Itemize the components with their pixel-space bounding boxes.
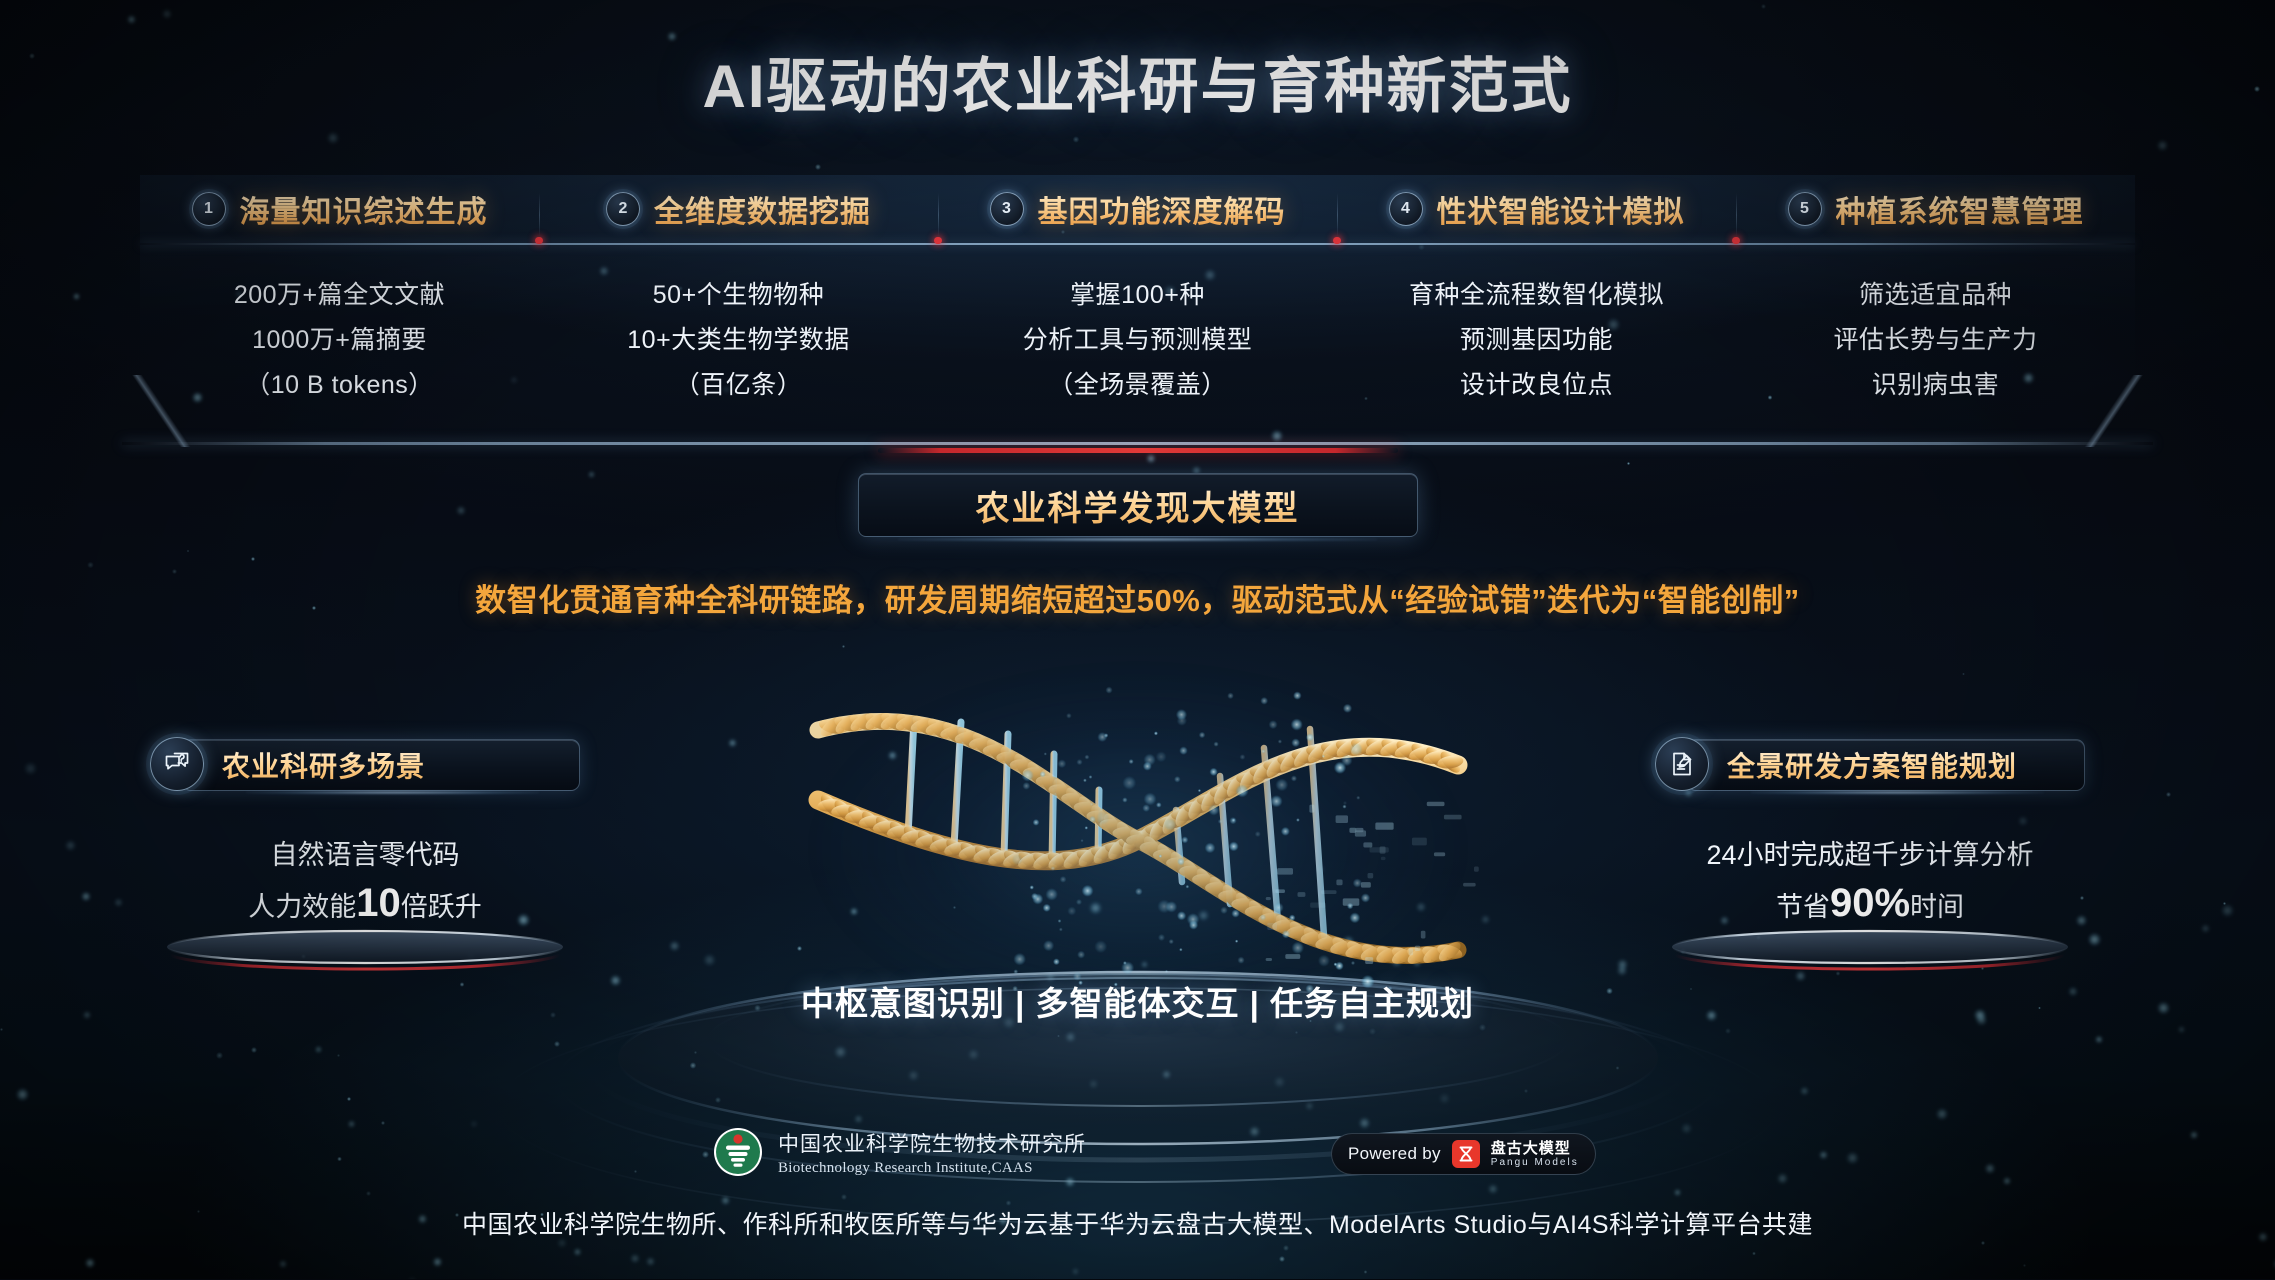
capability-title: 全维度数据挖掘 [654, 187, 871, 231]
pangu-name-cn: 盘古大模型 [1491, 1140, 1579, 1157]
right-feature-card: 全景研发方案智能规划 24小时完成超千步计算分析 节省90%时间 [1655, 735, 2085, 931]
left-feature-card: 农业科研多场景 自然语言零代码 人力效能10倍跃升 [150, 735, 580, 931]
right-card-lines: 24小时完成超千步计算分析 节省90%时间 [1655, 831, 2085, 931]
divider-dot [1334, 237, 1341, 244]
capability-line: 预测基因功能 [1409, 318, 1664, 363]
right-card-header: 全景研发方案智能规划 [1655, 735, 2085, 795]
capability-number-badge: 4 [1389, 192, 1423, 226]
page-title: AI驱动的农业科研与育种新范式 [0, 38, 2275, 125]
left-card-header: 农业科研多场景 [150, 735, 580, 795]
left-card-line-1: 自然语言零代码 [150, 831, 580, 879]
capability-title: 基因功能深度解码 [1038, 187, 1286, 231]
capability-line: 10+大类生物学数据 [627, 318, 849, 363]
capability-line: 评估长势与生产力 [1833, 318, 2037, 363]
left-card-title: 农业科研多场景 [222, 745, 425, 785]
capability-line: 50+个生物物种 [627, 273, 849, 318]
capability-header: 4性状智能设计模拟 [1389, 175, 1685, 243]
pangu-text: 盘古大模型 Pangu Models [1491, 1140, 1579, 1169]
capability-number-badge: 2 [606, 192, 640, 226]
capability-column-2[interactable]: 2全维度数据挖掘50+个生物物种10+大类生物学数据（百亿条） [539, 175, 938, 435]
capability-title: 海量知识综述生成 [240, 187, 488, 231]
capability-number-badge: 5 [1788, 192, 1822, 226]
capability-lines: 200万+篇全文文献1000万+篇摘要（10 B tokens） [234, 273, 445, 408]
capability-line: 1000万+篇摘要 [234, 318, 445, 363]
divider-dot [1733, 237, 1740, 244]
capability-line: （全场景覆盖） [1023, 363, 1253, 408]
capability-title: 种植系统智慧管理 [1836, 187, 2084, 231]
capability-line: 筛选适宜品种 [1833, 273, 2037, 318]
dna-glow [828, 683, 1448, 1013]
capability-header: 1海量知识综述生成 [192, 175, 488, 243]
powered-by-label: Powered by [1348, 1144, 1441, 1164]
model-banner-label: 农业科学发现大模型 [976, 481, 1300, 530]
capability-number-badge: 1 [192, 192, 226, 226]
panel-bottom-edge [122, 442, 2153, 445]
left-line2-number: 10 [356, 881, 401, 925]
right-card-line-1: 24小时完成超千步计算分析 [1655, 831, 2085, 879]
left-line2-prefix: 人力效能 [248, 892, 356, 922]
center-caption: 中枢意图识别 | 多智能体交互 | 任务自主规划 [0, 977, 2275, 1025]
model-banner: 农业科学发现大模型 [858, 473, 1418, 537]
divider-dot [536, 237, 543, 244]
right-line2-number: 90% [1830, 881, 1910, 925]
capabilities-panel: 1海量知识综述生成200万+篇全文文献1000万+篇摘要（10 B tokens… [140, 175, 2135, 435]
capability-column-4[interactable]: 4性状智能设计模拟育种全流程数智化模拟预测基因功能设计改良位点 [1337, 175, 1736, 435]
left-card-line-2: 人力效能10倍跃升 [150, 879, 580, 931]
capability-column-5[interactable]: 5种植系统智慧管理筛选适宜品种评估长势与生产力识别病虫害 [1736, 175, 2135, 435]
capability-header: 5种植系统智慧管理 [1788, 175, 2084, 243]
capability-line: （10 B tokens） [234, 363, 445, 408]
left-line2-suffix: 倍跃升 [401, 892, 482, 922]
right-line2-prefix: 节省 [1776, 892, 1830, 922]
capability-columns: 1海量知识综述生成200万+篇全文文献1000万+篇摘要（10 B tokens… [140, 175, 2135, 435]
footer-credit: 中国农业科学院生物所、作科所和牧医所等与华为云基于华为云盘古大模型、ModelA… [0, 1205, 2275, 1241]
document-edit-icon [1655, 737, 1709, 791]
capability-header: 3基因功能深度解码 [990, 175, 1286, 243]
capability-column-1[interactable]: 1海量知识综述生成200万+篇全文文献1000万+篇摘要（10 B tokens… [140, 175, 539, 435]
institute-logo: 中国农业科学院生物技术研究所 Biotechnology Research In… [712, 1126, 1086, 1178]
capability-lines: 掌握100+种分析工具与预测模型（全场景覆盖） [1023, 273, 1253, 408]
pangu-badge: Powered by 盘古大模型 Pangu Models [1331, 1133, 1596, 1175]
capability-lines: 育种全流程数智化模拟预测基因功能设计改良位点 [1409, 273, 1664, 408]
capability-title: 性状智能设计模拟 [1437, 187, 1685, 231]
capability-column-3[interactable]: 3基因功能深度解码掌握100+种分析工具与预测模型（全场景覆盖） [938, 175, 1337, 435]
right-line2-suffix: 时间 [1910, 892, 1964, 922]
chat-question-icon [150, 737, 204, 791]
capability-line: 设计改良位点 [1409, 363, 1664, 408]
capability-line: （百亿条） [627, 363, 849, 408]
tagline: 数智化贯通育种全科研链路，研发周期缩短超过50%，驱动范式从“经验试错”迭代为“… [0, 575, 2275, 620]
institute-text: 中国农业科学院生物技术研究所 Biotechnology Research In… [778, 1128, 1086, 1177]
capability-header: 2全维度数据挖掘 [606, 175, 871, 243]
divider-dot [935, 237, 942, 244]
pangu-name-en: Pangu Models [1491, 1157, 1579, 1169]
capability-line: 200万+篇全文文献 [234, 273, 445, 318]
institute-name-cn: 中国农业科学院生物技术研究所 [778, 1128, 1086, 1158]
capability-line: 识别病虫害 [1833, 363, 2037, 408]
panel-accent-red [878, 448, 1398, 453]
pangu-logo-icon [1452, 1140, 1480, 1168]
dna-helix-illustration [758, 650, 1518, 1030]
capability-line: 分析工具与预测模型 [1023, 318, 1253, 363]
right-card-title: 全景研发方案智能规划 [1727, 745, 2017, 785]
footer-bar [0, 1110, 2275, 1280]
capability-line: 掌握100+种 [1023, 273, 1253, 318]
right-card-line-2: 节省90%时间 [1655, 879, 2085, 931]
capability-line: 育种全流程数智化模拟 [1409, 273, 1664, 318]
left-card-lines: 自然语言零代码 人力效能10倍跃升 [150, 831, 580, 931]
capability-lines: 筛选适宜品种评估长势与生产力识别病虫害 [1833, 273, 2037, 408]
institute-name-en: Biotechnology Research Institute,CAAS [778, 1160, 1086, 1177]
capability-number-badge: 3 [990, 192, 1024, 226]
right-card-platform [1655, 925, 2085, 975]
capability-lines: 50+个生物物种10+大类生物学数据（百亿条） [627, 273, 849, 408]
left-card-platform [150, 925, 580, 975]
caas-emblem-icon [712, 1126, 764, 1178]
